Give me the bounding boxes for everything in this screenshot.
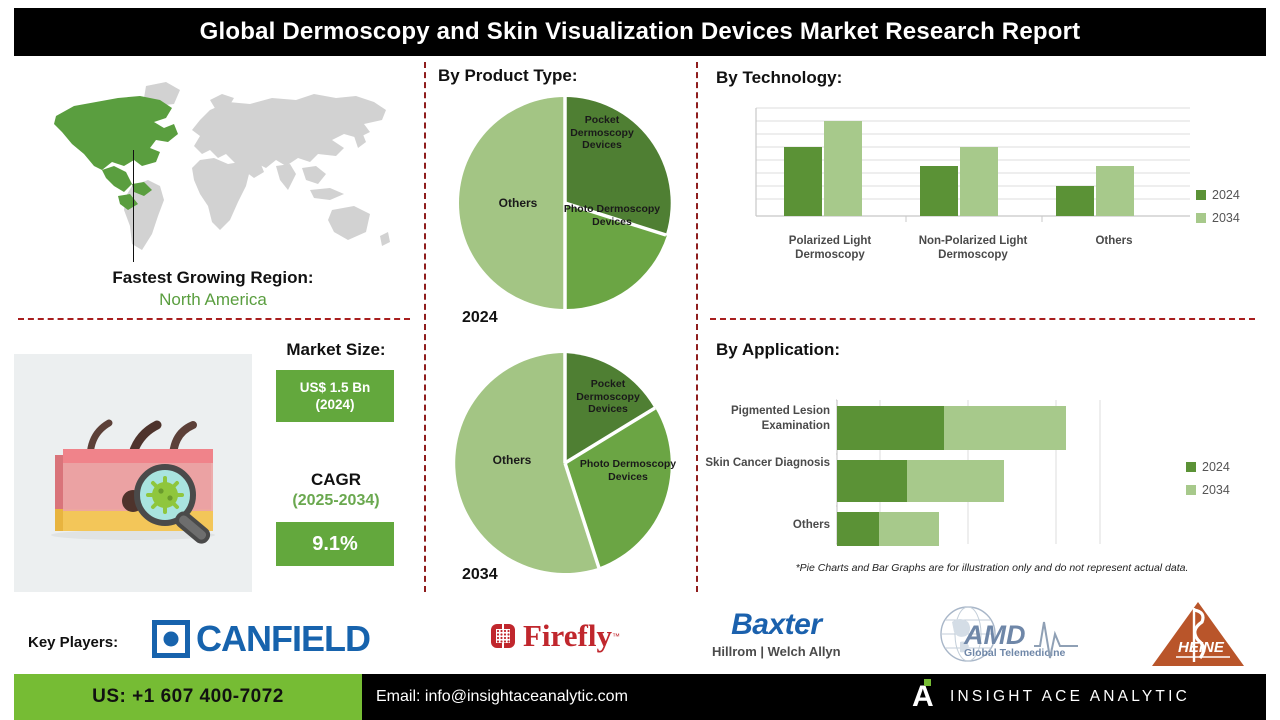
section-title-product-type: By Product Type: bbox=[438, 66, 577, 86]
callout-leader-line bbox=[133, 150, 134, 262]
tech-category-label-2: Non-Polarized Light Dermoscopy bbox=[898, 234, 1048, 262]
brand-lockup: A INSIGHT ACE ANALYTIC bbox=[912, 674, 1190, 720]
chart-footnote: *Pie Charts and Bar Graphs are for illus… bbox=[712, 562, 1272, 574]
key-players-label: Key Players: bbox=[28, 634, 118, 651]
tech-category-label-3: Others bbox=[1054, 234, 1174, 248]
cagr-badge: 9.1% bbox=[276, 522, 394, 566]
canfield-wordmark: CANFIELD bbox=[196, 618, 370, 660]
section-title-application: By Application: bbox=[716, 340, 840, 360]
divider-horizontal-right bbox=[710, 318, 1255, 320]
pie-2024-year: 2024 bbox=[462, 309, 498, 327]
pie-2034-label-photo: Photo Dermoscopy Devices bbox=[578, 458, 678, 483]
legend-item-2034: 2034 bbox=[1196, 211, 1240, 225]
divider-vertical-left bbox=[424, 62, 426, 592]
brand-name: INSIGHT ACE ANALYTIC bbox=[950, 688, 1190, 706]
market-size-value: US$ 1.5 Bn bbox=[300, 379, 371, 396]
application-legend: 2024 2034 bbox=[1186, 460, 1230, 506]
legend-label-2024: 2024 bbox=[1212, 188, 1240, 202]
tech-category-label-1: Polarized Light Dermoscopy bbox=[762, 234, 898, 262]
world-map bbox=[14, 74, 404, 264]
divider-vertical-right bbox=[696, 62, 698, 592]
legend-label-2034: 2034 bbox=[1212, 211, 1240, 225]
header-bar: Global Dermoscopy and Skin Visualization… bbox=[14, 8, 1266, 56]
market-size-title: Market Size: bbox=[262, 340, 410, 360]
logo-amd: AMD Global Telemedicine bbox=[938, 604, 1088, 666]
cagr-title: CAGR bbox=[262, 470, 410, 490]
app-category-label-3: Others bbox=[690, 518, 830, 533]
market-size-year: (2024) bbox=[315, 396, 354, 413]
brand-a-icon: A bbox=[912, 682, 936, 712]
app-category-label-1: Pigmented Lesion Examination bbox=[690, 404, 830, 434]
pie-2024-label-pocket: Pocket Dermoscopy Devices bbox=[552, 114, 652, 152]
pie-2024-label-photo: Photo Dermoscopy Devices bbox=[562, 203, 662, 228]
pie-2034-label-others: Others bbox=[468, 454, 556, 467]
legend-swatch-2024 bbox=[1196, 190, 1206, 200]
technology-legend: 2024 2034 bbox=[1196, 188, 1240, 234]
legend-swatch-2034 bbox=[1196, 213, 1206, 223]
firefly-wordmark: Firefly bbox=[523, 618, 612, 654]
page-title: Global Dermoscopy and Skin Visualization… bbox=[200, 18, 1081, 46]
cagr-years: (2025-2034) bbox=[262, 492, 410, 510]
logo-firefly: Firefly ™ bbox=[488, 618, 620, 654]
email-text: Email: info@insightaceanalytic.com bbox=[376, 688, 628, 706]
cagr-value: 9.1% bbox=[312, 533, 358, 556]
pie-2034-label-pocket: Pocket Dermoscopy Devices bbox=[558, 378, 658, 416]
phone-text: US: +1 607 400-7072 bbox=[92, 686, 284, 708]
legend-item-app-2024: 2024 bbox=[1186, 460, 1230, 474]
phone-bar: US: +1 607 400-7072 bbox=[14, 674, 362, 720]
legend-item-2024: 2024 bbox=[1196, 188, 1240, 202]
legend-label-app-2034: 2034 bbox=[1202, 483, 1230, 497]
divider-horizontal-left bbox=[18, 318, 410, 320]
heine-wordmark: HEINE bbox=[1178, 639, 1225, 656]
fastest-region-value: North America bbox=[18, 290, 408, 310]
application-bar-chart bbox=[836, 398, 1206, 546]
svg-text:AMD: AMD bbox=[963, 620, 1026, 650]
app-category-label-2: Skin Cancer Diagnosis bbox=[690, 456, 830, 471]
pie-2024-label-others: Others bbox=[474, 197, 562, 210]
legend-swatch-app-2024 bbox=[1186, 462, 1196, 472]
baxter-wordmark: Baxter bbox=[731, 608, 821, 642]
technology-bar-chart bbox=[748, 104, 1198, 226]
section-title-technology: By Technology: bbox=[716, 68, 842, 88]
fastest-region-label: Fastest Growing Region: bbox=[18, 268, 408, 288]
logo-baxter: Baxter Hillrom | Welch Allyn bbox=[712, 608, 841, 659]
legend-label-app-2024: 2024 bbox=[1202, 460, 1230, 474]
baxter-subbrand: Hillrom | Welch Allyn bbox=[712, 644, 841, 659]
pie-2034-year: 2034 bbox=[462, 566, 498, 584]
canfield-mark-icon bbox=[152, 620, 190, 658]
market-size-badge: US$ 1.5 Bn (2024) bbox=[276, 370, 394, 422]
skin-layers-icon bbox=[33, 383, 233, 563]
legend-item-app-2034: 2034 bbox=[1186, 483, 1230, 497]
legend-swatch-app-2034 bbox=[1186, 485, 1196, 495]
logo-canfield: CANFIELD bbox=[152, 618, 370, 660]
infographic-page: Global Dermoscopy and Skin Visualization… bbox=[0, 0, 1280, 720]
logo-heine: HEINE bbox=[1150, 600, 1246, 668]
skin-illustration-card bbox=[14, 354, 252, 592]
firefly-mark-icon bbox=[488, 621, 518, 651]
firefly-trademark: ™ bbox=[612, 632, 620, 641]
